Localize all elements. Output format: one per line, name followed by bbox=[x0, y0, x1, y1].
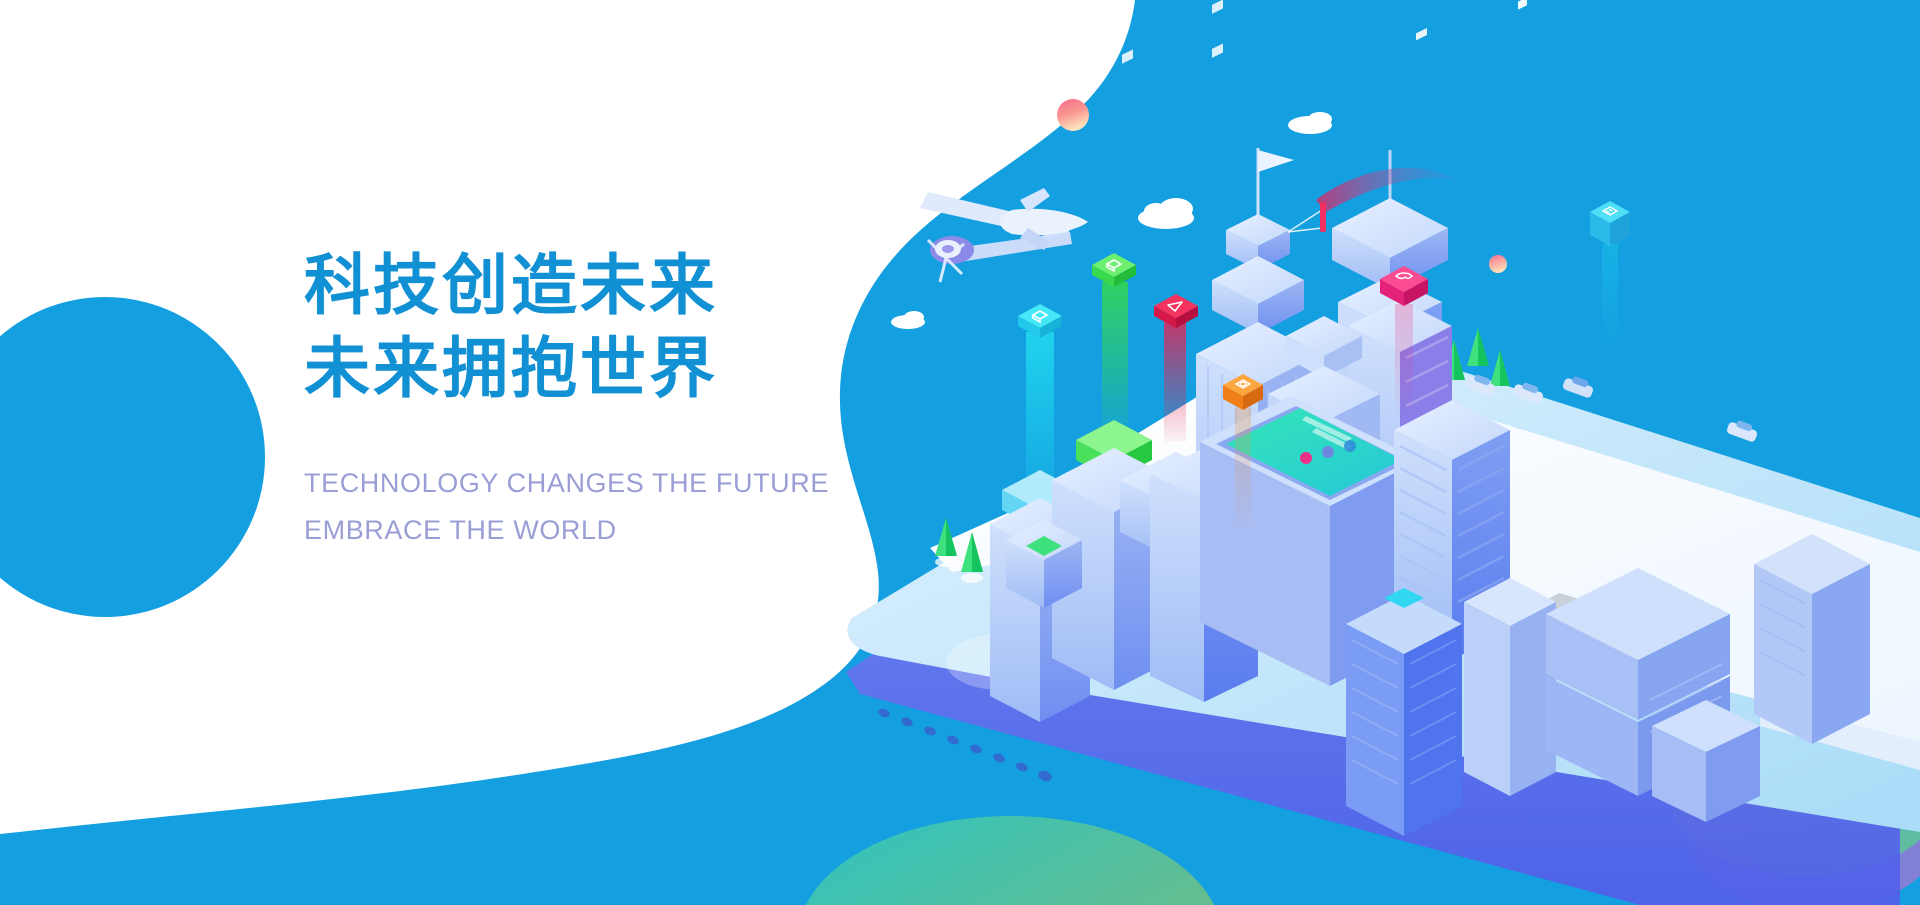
building-front-small bbox=[1652, 700, 1760, 822]
cloud-tiny-left bbox=[891, 311, 925, 329]
headline-block: 科技创造未来 未来拥抱世界 bbox=[304, 250, 864, 405]
headline-line-1: 科技创造未来 bbox=[304, 250, 864, 323]
marker-red bbox=[1320, 202, 1326, 232]
headline-line-2: 未来拥抱世界 bbox=[304, 333, 864, 406]
beacon-green-chat bbox=[1092, 253, 1136, 287]
flag-icon bbox=[1258, 150, 1294, 172]
building-far-right bbox=[1754, 534, 1870, 744]
beacon-cyan-keypad bbox=[1590, 201, 1630, 344]
subtitle-block: TECHNOLOGY CHANGES THE FUTURE EMBRACE TH… bbox=[304, 470, 829, 544]
subtitle-line-2: EMBRACE THE WORLD bbox=[304, 517, 829, 544]
banner-root: 科技创造未来 未来拥抱世界 TECHNOLOGY CHANGES THE FUT… bbox=[0, 0, 1920, 905]
city-illustration bbox=[0, 0, 1920, 905]
cloud-small-top bbox=[1288, 112, 1332, 134]
beacon-cyan-chat bbox=[1018, 304, 1062, 338]
subtitle-line-1: TECHNOLOGY CHANGES THE FUTURE bbox=[304, 470, 829, 497]
beacon-crimson-send bbox=[1154, 294, 1198, 328]
cloud-medium bbox=[1138, 198, 1194, 229]
